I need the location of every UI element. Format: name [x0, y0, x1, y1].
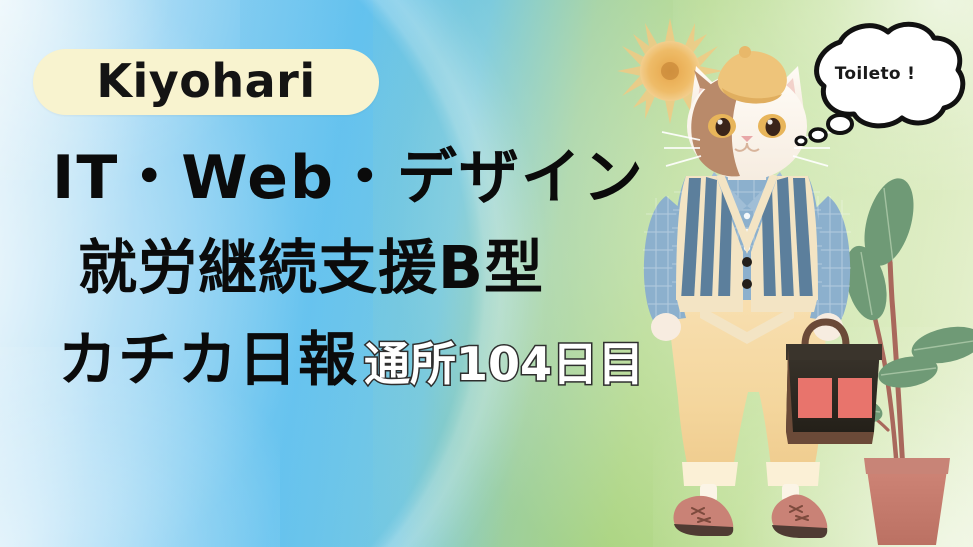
site-name-badge: Kiyohari: [33, 49, 379, 115]
headline-line-report: カチカ日報 通所104日目: [58, 330, 644, 389]
headline-report-title: カチカ日報: [58, 330, 358, 389]
beret: [718, 46, 787, 104]
site-name-text: Kiyohari: [96, 58, 315, 104]
shoes: [673, 495, 827, 538]
thought-bubble-shape: [796, 24, 963, 145]
headline-line-program-type: 就労継続支援B型: [78, 238, 544, 297]
blog-header-banner: Toileto ! Kiyohari IT・Web・デザイン 就労継続支援B型 …: [0, 0, 973, 547]
headline-attendance-count: 通所104日目: [364, 341, 644, 387]
thought-bubble: Toileto !: [782, 18, 968, 146]
headline-line-services: IT・Web・デザイン: [52, 148, 645, 208]
